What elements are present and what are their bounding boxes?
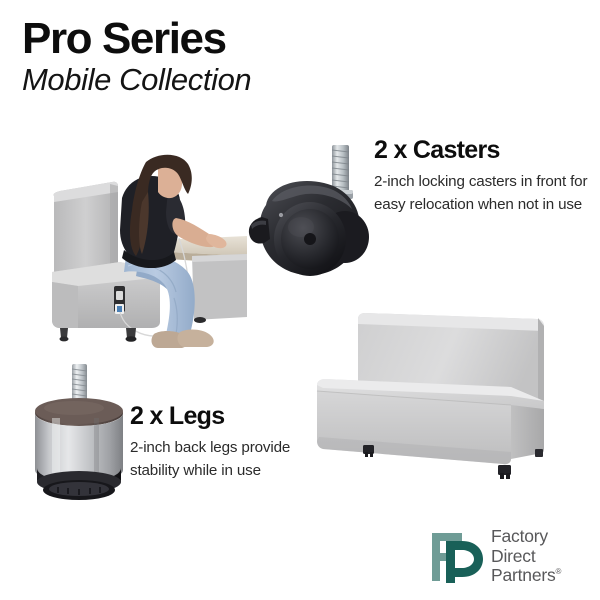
sofa-photo bbox=[305, 297, 590, 492]
fp-monogram-icon bbox=[428, 529, 486, 585]
caster-photo bbox=[248, 133, 374, 293]
logo-letter-p bbox=[446, 541, 483, 583]
person-shoe-right bbox=[177, 330, 213, 347]
logo-line-2: Direct bbox=[491, 547, 561, 567]
feature-block-legs: 2 x Legs 2-inch back legs provide stabil… bbox=[130, 402, 300, 482]
leg-photo bbox=[24, 358, 144, 503]
legs-heading: 2 x Legs bbox=[130, 402, 300, 431]
brand-logo: Factory Direct Partners® bbox=[428, 527, 588, 589]
logo-wordmark: Factory Direct Partners® bbox=[491, 527, 561, 586]
person-seated-photo bbox=[42, 152, 247, 357]
casters-body: 2-inch locking casters in front for easy… bbox=[374, 171, 590, 216]
logo-line-3: Partners® bbox=[491, 566, 561, 586]
page-title: Pro Series bbox=[22, 14, 352, 64]
logo-line-1: Factory bbox=[491, 527, 561, 547]
feature-block-casters: 2 x Casters 2-inch locking casters in fr… bbox=[374, 136, 590, 216]
product-feature-graphic: Pro Series Mobile Collection bbox=[0, 0, 600, 600]
sofa-caster-left bbox=[363, 445, 374, 457]
header: Pro Series Mobile Collection bbox=[22, 14, 352, 98]
casters-heading: 2 x Casters bbox=[374, 136, 590, 165]
page-subtitle: Mobile Collection bbox=[22, 62, 352, 98]
module-caster bbox=[194, 317, 206, 323]
logo-line-3-text: Partners bbox=[491, 565, 556, 585]
sofa-rear-leg bbox=[535, 449, 543, 457]
chair-leg bbox=[60, 328, 68, 338]
registered-mark: ® bbox=[556, 567, 562, 576]
sofa-caster-right bbox=[498, 465, 511, 479]
legs-body: 2-inch back legs provide stability while… bbox=[130, 437, 300, 482]
